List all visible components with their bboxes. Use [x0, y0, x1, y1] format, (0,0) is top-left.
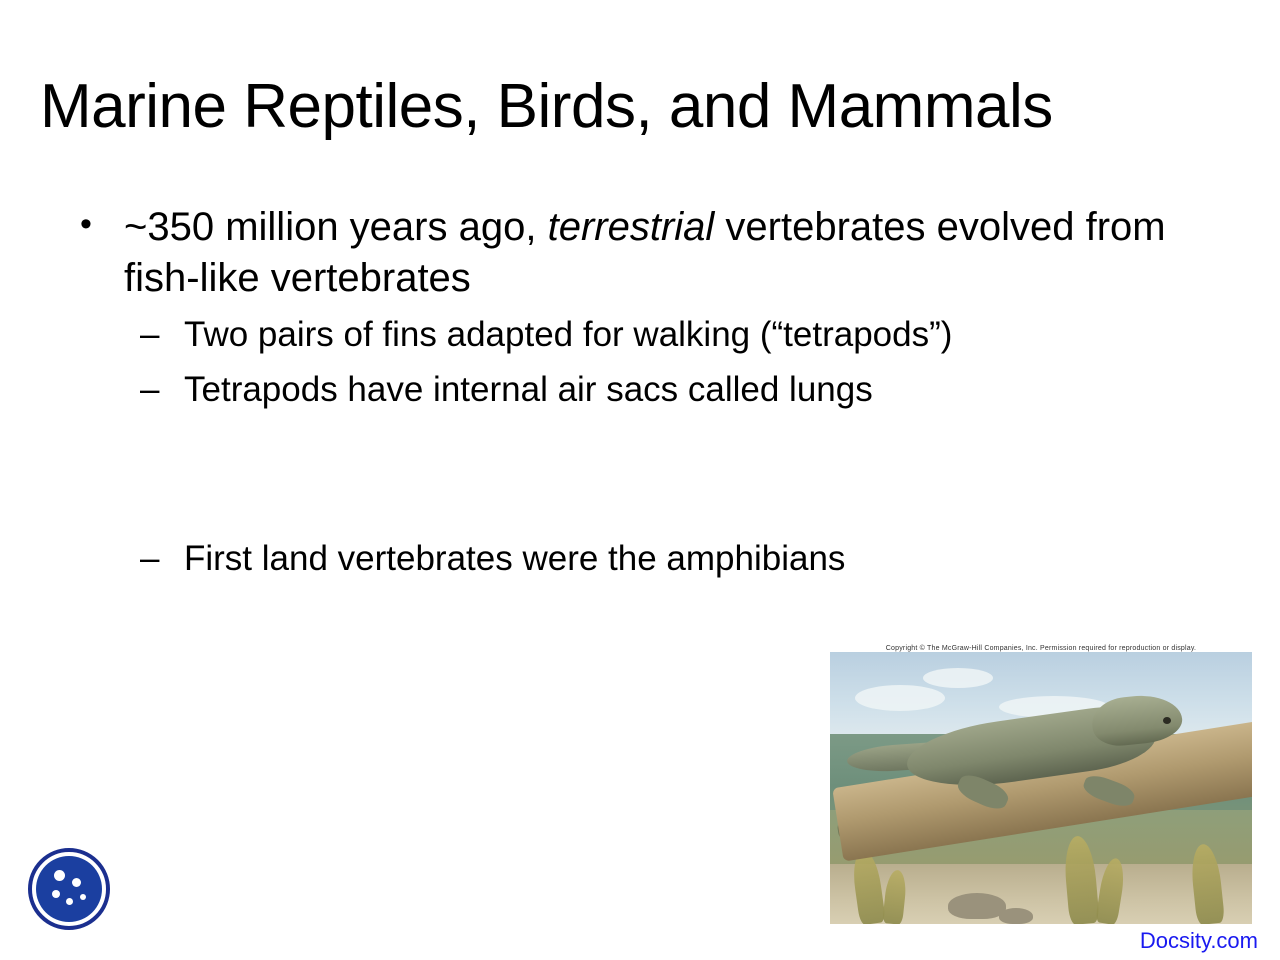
dash-marker-icon: –	[140, 312, 159, 358]
logo-dot	[66, 898, 73, 905]
list-item-level1: • ~350 million years ago, terrestrial ve…	[62, 202, 1242, 304]
docsity-logo	[28, 848, 114, 934]
presentation-slide: Marine Reptiles, Birds, and Mammals • ~3…	[0, 0, 1280, 960]
cloud-shape	[855, 685, 945, 711]
slide-body-list: • ~350 million years ago, terrestrial ve…	[62, 202, 1242, 413]
bullet-marker-icon: •	[80, 201, 92, 249]
logo-circle-fill	[36, 856, 102, 922]
list-item-text-part-1: ~350 million years ago,	[124, 205, 548, 249]
logo-dot	[72, 878, 81, 887]
rock-shape	[948, 893, 1006, 919]
watermark-text: Docsity.com	[1140, 928, 1258, 954]
dash-marker-icon: –	[140, 367, 159, 413]
list-item-level2-lungs: – Tetrapods have internal air sacs calle…	[62, 367, 1242, 413]
rock-shape	[999, 908, 1033, 924]
list-item-text: Two pairs of fins adapted for walking (“…	[184, 315, 952, 354]
logo-dot	[52, 890, 60, 898]
list-item-text: Tetrapods have internal air sacs called …	[184, 370, 873, 409]
list-item-text-emphasis: terrestrial	[548, 205, 715, 249]
dash-marker-icon: –	[140, 536, 159, 582]
page-title: Marine Reptiles, Birds, and Mammals	[40, 74, 1240, 139]
logo-dot	[80, 894, 86, 900]
list-item-level2-fins: – Two pairs of fins adapted for walking …	[62, 312, 1242, 358]
logo-dot	[54, 870, 65, 881]
figure-credit: Copyright © The McGraw-Hill Companies, I…	[830, 645, 1252, 652]
tetrapod-illustration	[830, 652, 1252, 924]
list-item-text: First land vertebrates were the amphibia…	[184, 539, 845, 578]
list-item-level2-amphibians: – First land vertebrates were the amphib…	[62, 536, 884, 582]
